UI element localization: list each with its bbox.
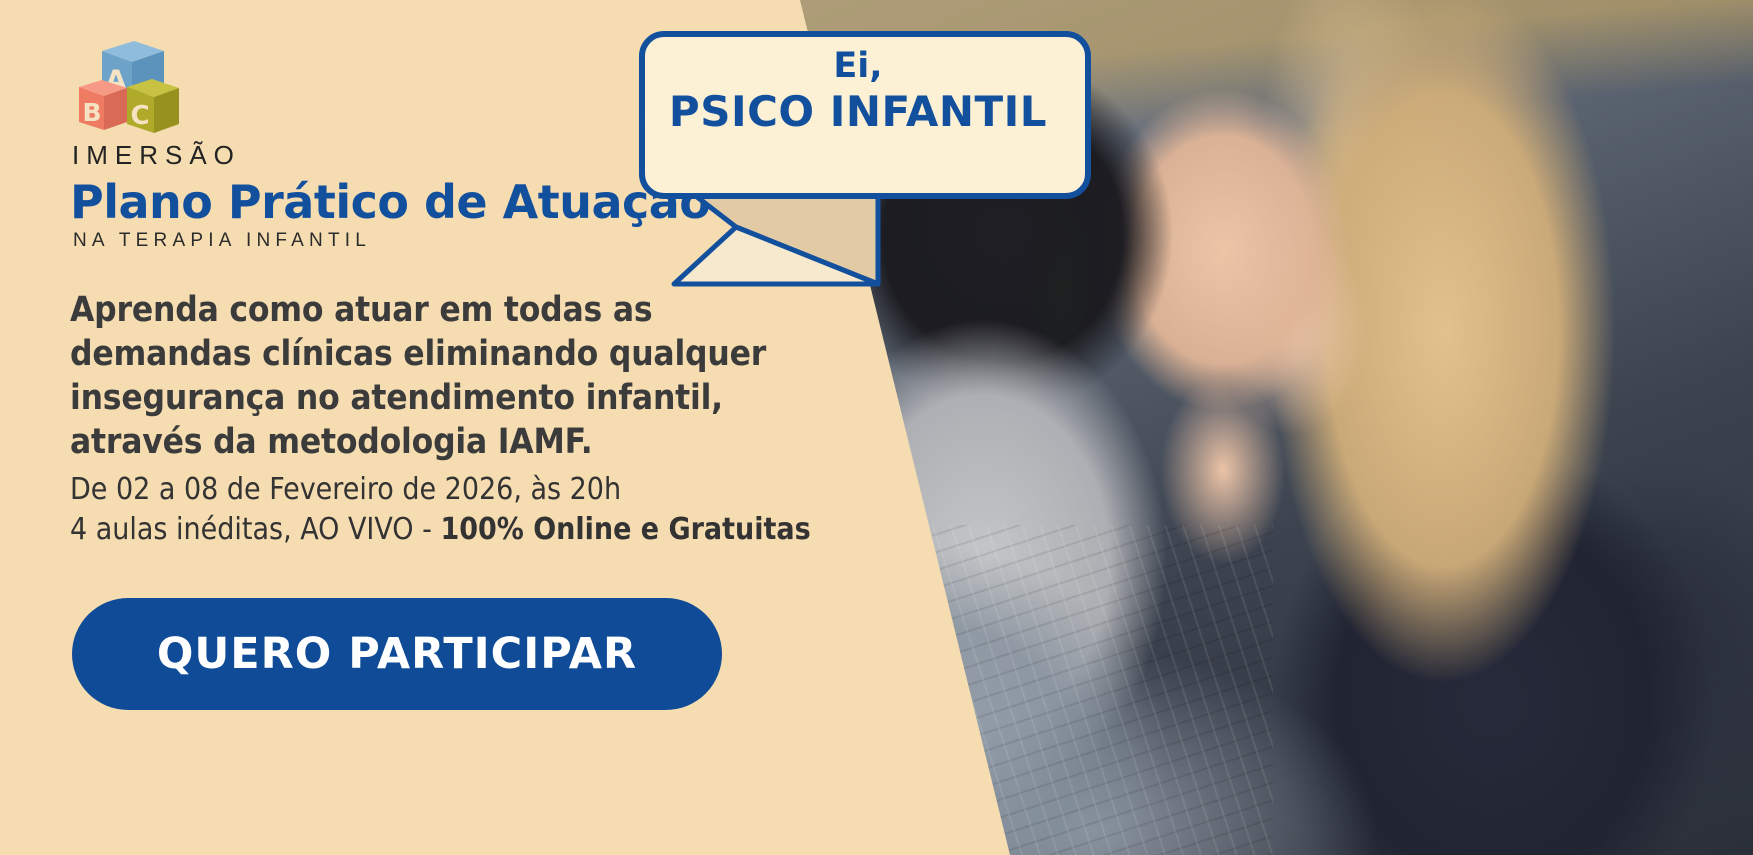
block-c-icon: C — [127, 79, 179, 133]
lead-paragraph: Aprenda como atuar em todas as demandas … — [70, 288, 800, 464]
subkicker-na-terapia-infantil: NA TERAPIA INFANTIL — [73, 230, 371, 252]
block-b-icon: B — [79, 80, 127, 130]
detail-classes: 4 aulas inéditas, AO VIVO - 100% Online … — [70, 510, 811, 549]
kicker-imersao: IMERSÃO — [72, 140, 241, 171]
svg-text:B: B — [82, 98, 101, 127]
svg-text:C: C — [130, 101, 149, 131]
page-title: Plano Prático de Atuação — [70, 175, 710, 229]
promo-banner: A B C IMERSÃO Plano Prático de Atuação N… — [0, 0, 1753, 855]
detail-dates: De 02 a 08 de Fevereiro de 2026, às 20h — [70, 470, 621, 509]
quero-participar-button[interactable]: QUERO PARTICIPAR — [72, 598, 722, 710]
detail-classes-prefix: 4 aulas inéditas, AO VIVO - — [70, 512, 440, 547]
detail-classes-highlight: 100% Online e Gratuitas — [440, 512, 810, 547]
abc-blocks-logo: A B C — [72, 33, 182, 138]
